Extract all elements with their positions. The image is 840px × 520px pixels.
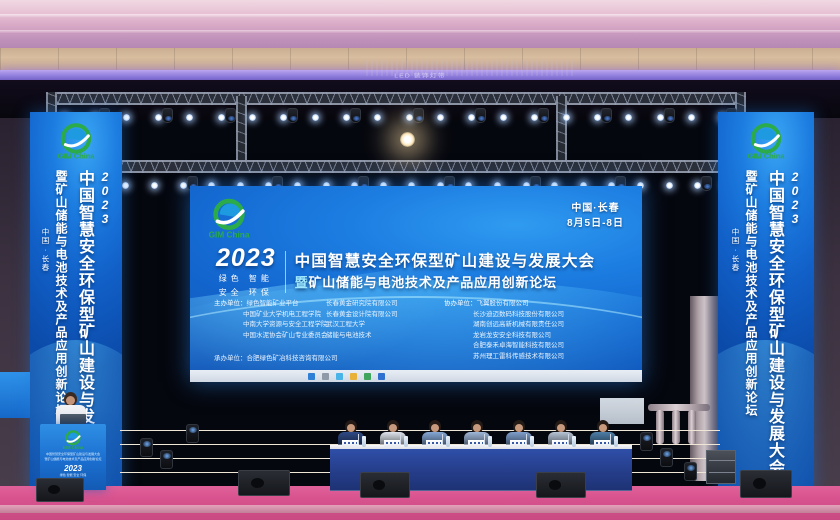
- stage-lamp: [657, 114, 664, 121]
- stage-monitor-speaker-2: [360, 472, 410, 498]
- svg-text:GIM China: GIM China: [58, 152, 96, 161]
- table-microphone: [358, 434, 359, 444]
- stage-lamp: [406, 114, 413, 121]
- coorg-item-4: 合肥泰禾卓海智能科技有限公司: [444, 341, 564, 352]
- hall-wall-left: [0, 118, 34, 520]
- stage-lamp: [280, 114, 287, 121]
- banner-right-place: 中国·长春: [730, 228, 741, 278]
- svg-text:GIM China: GIM China: [63, 445, 84, 450]
- stage-lamp: [666, 182, 673, 189]
- banner-left-place: 中国·长春: [40, 228, 51, 278]
- moving-head-light-2: [160, 450, 173, 469]
- panel-name-card: [342, 440, 359, 447]
- panel-person-face: [431, 424, 439, 432]
- carpet-edge-strip: [0, 505, 840, 513]
- taskbar-app-icon-3[interactable]: [364, 373, 371, 380]
- moving-head-fixture: [287, 108, 298, 123]
- panel-name-card: [594, 440, 611, 447]
- moving-head-fixture: [601, 108, 612, 123]
- ceiling-vent-grille: [366, 60, 576, 76]
- host-col1-item-2: 中南大学资源与安全工程学院: [214, 320, 326, 331]
- gim-china-logo-icon: GIM China: [54, 120, 98, 164]
- moving-head-fixture: [701, 176, 712, 191]
- stage-lamp: [180, 182, 187, 189]
- moving-head-light-3: [186, 424, 199, 443]
- screen-place-date: 中国·长春 8月5日-8日: [567, 202, 624, 231]
- red-carpet: [0, 486, 840, 520]
- banner-right-year: 2023: [788, 170, 802, 222]
- moving-head-fixture: [413, 108, 424, 123]
- screen-place: 中国·长春: [567, 202, 624, 217]
- water-bottle: [614, 436, 618, 447]
- stage-monitor-speaker-1: [238, 470, 290, 496]
- ceiling-molding-lower: [0, 30, 840, 33]
- water-bottle: [488, 436, 492, 447]
- stage-monitor-speaker-3: [536, 472, 586, 498]
- host-label: 主办单位：: [214, 300, 247, 307]
- screen-dates: 8月5日-8日: [567, 217, 624, 232]
- table-microphone: [400, 434, 401, 444]
- water-bottle: [362, 436, 366, 447]
- table-microphone: [526, 434, 527, 444]
- moving-head-light-4: [640, 432, 653, 451]
- host-col1-item-1: 中国矿业大学机电工程学院: [214, 310, 326, 321]
- gim-china-logo-icon: GIM China: [61, 429, 85, 451]
- stage-lamp: [122, 182, 129, 189]
- coorg-label: 协办单位：: [444, 300, 477, 307]
- podium-line-2: 暨矿山储能与电池技术及产品应用创新论坛: [40, 457, 106, 462]
- gim-china-logo-icon: GIM China: [744, 120, 788, 164]
- banner-left-year: 2023: [98, 170, 112, 222]
- step-1: [120, 430, 720, 444]
- vertical-banner-right: GIM China 2023 中国智慧安全环保型矿山建设与发展大会 暨矿山储能与…: [718, 112, 814, 492]
- moving-head-light-5: [660, 448, 673, 467]
- screen-title-sub: 矿山储能与电池技术及产品应用创新论坛: [308, 275, 556, 290]
- water-bottle: [446, 436, 450, 447]
- taskbar-app-icon-1[interactable]: [336, 373, 343, 380]
- stage-photograph: LED 装饰灯带 GIM China 2023 中国智慧安全环保型矿山建设与发展…: [0, 0, 840, 520]
- water-bottle: [404, 436, 408, 447]
- screen-titles: 中国智慧安全环保型矿山建设与发展大会 暨矿山储能与电池技术及产品应用创新论坛: [295, 253, 596, 291]
- water-bottle: [572, 436, 576, 447]
- table-microphone: [442, 434, 443, 444]
- stage-lamp: [312, 114, 319, 121]
- ceiling: [0, 0, 840, 52]
- moving-head-fixture: [664, 108, 675, 123]
- svg-text:GIM China: GIM China: [209, 230, 250, 239]
- truss-lower: [60, 160, 736, 173]
- taskbar-start-icon[interactable]: [308, 373, 315, 380]
- panel-person-face: [515, 424, 523, 432]
- screen-title-sub-prefix: 暨: [295, 275, 309, 290]
- moving-head-light-1: [140, 438, 153, 457]
- podium-year: 2023: [40, 464, 106, 473]
- stage-lamp: [151, 182, 158, 189]
- stage-monitor-speaker-4: [740, 470, 792, 498]
- undertaker-row: 承办单位：合肥绿色矿冶科技咨询有限公司: [214, 352, 338, 362]
- coorg-item-0: 飞翼股份有限公司: [477, 300, 529, 307]
- host-column-2: 长春黄金研究院有限公司 长春黄金设计院有限公司 武汉工程大学 储能与电池技术: [326, 299, 444, 362]
- screen-title-sub-wrap: 暨矿山储能与电池技术及产品应用创新论坛: [295, 275, 596, 291]
- equipment-road-case: [706, 450, 736, 484]
- panel-person-face: [389, 424, 397, 432]
- truss-upper: [46, 92, 746, 105]
- panel-name-card: [426, 440, 443, 447]
- panel-person-face: [599, 424, 607, 432]
- coorg-item-3: 龙岩龙安安全科技有限公司: [444, 331, 564, 342]
- stage-lamp: [531, 114, 538, 121]
- moving-head-fixture: [538, 108, 549, 123]
- table-microphone: [484, 434, 485, 444]
- panel-person-face: [347, 424, 355, 432]
- moving-head-light-6: [684, 462, 697, 481]
- host-col1-item-3: 中国水泥协会矿山专业委员会: [214, 331, 326, 342]
- stage-lamp: [218, 114, 225, 121]
- stage-lamp: [155, 114, 162, 121]
- coorg-item-1: 长沙迪迈数码科技股份有限公司: [444, 310, 564, 321]
- speaker-face: [66, 396, 75, 405]
- host-col2-item-0: 长春黄金研究院有限公司: [326, 299, 444, 310]
- light-row-upper: [48, 106, 738, 130]
- coorg-label-row: 协办单位：飞翼股份有限公司: [444, 299, 564, 310]
- screen-title-row: 2023 绿色 智能 安全 环保 中国智慧安全环保型矿山建设与发展大会 暨矿山储…: [216, 246, 595, 299]
- stage-lamp: [594, 114, 601, 121]
- podium-line-1: 中国智慧安全环保型矿山建设与发展大会: [40, 452, 106, 457]
- table-microphone: [610, 434, 611, 444]
- stage-lamp: [249, 114, 256, 121]
- hall-wall-right: [810, 118, 840, 520]
- stage-lamp: [688, 114, 695, 121]
- host-col2-item-2: 武汉工程大学: [326, 320, 444, 331]
- undertaker-name: 合肥绿色矿冶科技咨询有限公司: [247, 355, 338, 362]
- screen-slogan-line1: 绿色 智能: [216, 274, 276, 285]
- panel-name-card: [552, 440, 569, 447]
- stage-lamp: [694, 182, 701, 189]
- title-divider: [285, 251, 286, 293]
- host-col2-item-3: 储能与电池技术: [326, 331, 444, 342]
- banner-right-title-sub: 暨矿山储能与电池技术及产品应用创新论坛: [743, 170, 760, 488]
- coorganizer-column: 协办单位：飞翼股份有限公司 长沙迪迈数码科技股份有限公司 湖南创远高新机械有限责…: [444, 299, 564, 362]
- spotlight-beam: [400, 132, 415, 147]
- stage-lamp: [563, 114, 570, 121]
- panel-name-card: [510, 440, 527, 447]
- svg-text:GIM China: GIM China: [748, 152, 786, 161]
- undertaker-label: 承办单位：: [214, 355, 247, 362]
- coorg-item-5: 苏州理工雷科传感技术有限公司: [444, 352, 564, 363]
- stage-lamp: [625, 114, 632, 121]
- stage-monitor-speaker-5: [36, 478, 84, 502]
- windows-taskbar[interactable]: [190, 370, 642, 382]
- taskbar-app-icon-4[interactable]: [378, 373, 385, 380]
- host-col2-item-1: 长春黄金设计院有限公司: [326, 310, 444, 321]
- panel-name-card: [384, 440, 401, 447]
- coorg-item-2: 湖南创远高新机械有限责任公司: [444, 320, 564, 331]
- banner-right-text: 2023 中国智慧安全环保型矿山建设与发展大会 暨矿山储能与电池技术及产品应用创…: [718, 170, 814, 488]
- main-led-screen: GIM China 中国·长春 8月5日-8日 2023 绿色 智能 安全 环保…: [190, 186, 642, 382]
- stage-lamp: [186, 114, 193, 121]
- panel-person-face: [557, 424, 565, 432]
- stage-lamp: [374, 114, 381, 121]
- water-bottle: [530, 436, 534, 447]
- panel-person-face: [473, 424, 481, 432]
- screen-year-block: 2023 绿色 智能 安全 环保: [216, 246, 276, 299]
- ceiling-molding-upper: [0, 14, 840, 18]
- stage-lamp: [343, 114, 350, 121]
- moving-head-fixture: [475, 108, 486, 123]
- host-col1-item-0: 绿色智能矿业平台: [247, 300, 299, 307]
- stage-lamp: [500, 114, 507, 121]
- taskbar-app-icon-2[interactable]: [350, 373, 357, 380]
- panel-name-card: [468, 440, 485, 447]
- host-label-row: 主办单位：绿色智能矿业平台: [214, 299, 326, 310]
- table-microphone: [568, 434, 569, 444]
- stage-lamp: [123, 114, 130, 121]
- screen-slogan-line2: 安全 环保: [216, 288, 276, 299]
- moving-head-fixture: [350, 108, 361, 123]
- stage-lamp: [437, 114, 444, 121]
- moving-head-fixture: [225, 108, 236, 123]
- gim-china-logo-icon: GIM China: [206, 196, 252, 242]
- stage-lamp: [468, 114, 475, 121]
- screen-year: 2023: [216, 246, 276, 271]
- screen-title-main: 中国智慧安全环保型矿山建设与发展大会: [295, 253, 596, 272]
- banner-right-title-main: 中国智慧安全环保型矿山建设与发展大会: [762, 170, 786, 488]
- podium-slogan: 绿色 智能 安全 环保: [40, 473, 106, 478]
- side-led-panel-left: [0, 372, 34, 418]
- taskbar-search-icon[interactable]: [322, 373, 329, 380]
- moving-head-fixture: [162, 108, 173, 123]
